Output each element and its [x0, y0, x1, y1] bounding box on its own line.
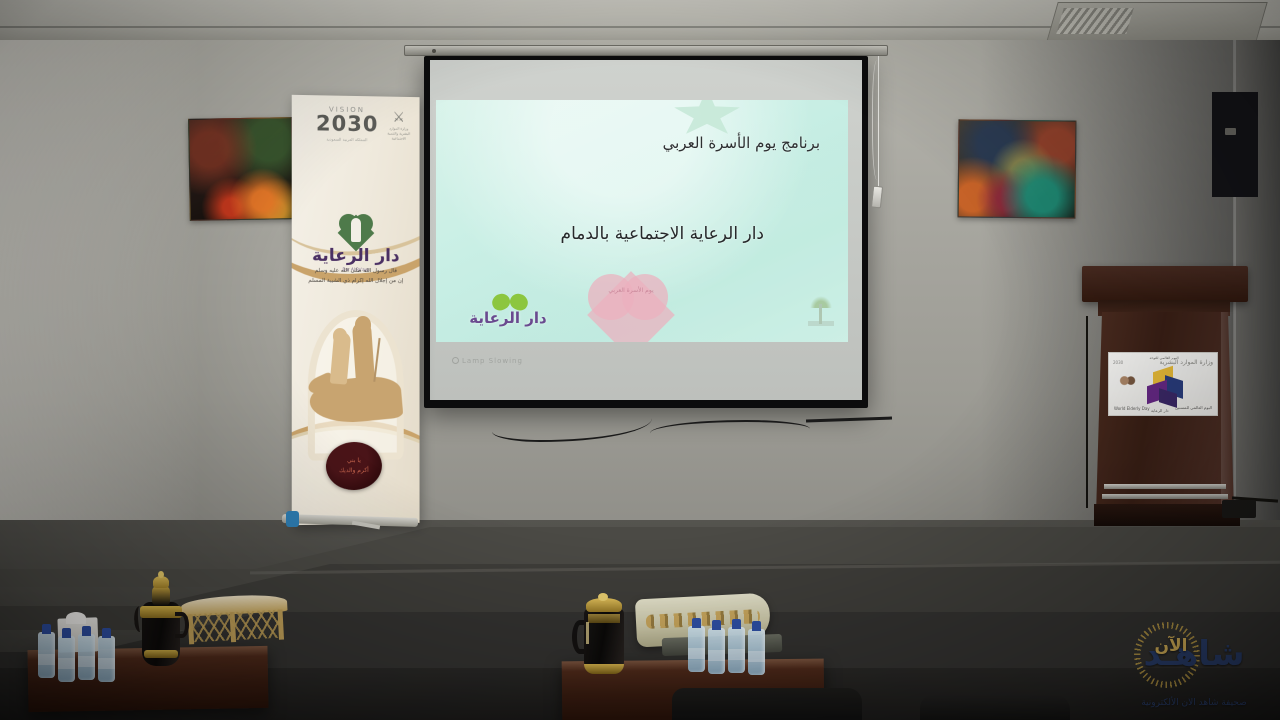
screen-pull-cord-slack: [872, 60, 884, 180]
banner-heart-icon: [339, 214, 373, 244]
heart-logo-icon: يوم الأسرة العربي: [588, 270, 674, 322]
podium-poster-people-photo: [1119, 375, 1137, 389]
water-bottle: [98, 636, 115, 682]
podium-foot-rail-lower: [1102, 494, 1228, 499]
dar-alreaya-logo: دار الرعاية: [448, 294, 568, 336]
screen-brand-label: Lamp Slowing: [452, 357, 523, 365]
star-decoration-icon: [674, 100, 740, 134]
banner-base-cap: [286, 511, 299, 527]
watermark-subtitle: صحيفة شاهد الان الألكترونية: [1116, 698, 1272, 708]
slide-title-line-2: دار الرعاية الاجتماعية بالدمام: [561, 224, 764, 244]
screen-housing-screw: [432, 49, 436, 53]
banner-quote-line-1: قال رسول الله صلى الله عليه وسلم: [298, 266, 414, 277]
ministry-emblem-icon: ⚔: [386, 111, 412, 125]
rollup-banner: VISION 2030 المملكة العربية السعودية ⚔ و…: [292, 95, 420, 525]
podium-poster-cube-graphic: [1145, 369, 1185, 407]
banner-quote-line-2: إن من إجلال الله إكرام ذي الشيبة المسلم: [298, 276, 414, 287]
projector-screen-housing: [404, 45, 888, 56]
water-bottle: [728, 627, 745, 673]
banner-organisation-logo: دار الرعاية Dar Al Re'aya: [292, 213, 420, 272]
podium-poster-footer-right: اليوم العالمي للمسنين: [1175, 405, 1212, 410]
projected-slide: برنامج يوم الأسرة العربي دار الرعاية الا…: [436, 100, 848, 342]
ministry-emblem: ⚔ وزارة الموارد البشرية والتنمية الاجتما…: [386, 111, 412, 142]
podium-poster-vision-mark: 2030: [1113, 360, 1123, 365]
podium-poster-ministry-mark: وزارة الموارد البشرية: [1160, 359, 1213, 366]
heart-logo-text: يوم الأسرة العربي: [588, 286, 674, 295]
foreground-chair-left: [672, 688, 862, 720]
podium-poster-footer-left: World Elderly Day: [1114, 406, 1150, 411]
floor-power-box: [1222, 500, 1256, 518]
tissue-sheet: [66, 612, 86, 624]
vision-2030-number: 2030: [316, 113, 378, 135]
foreground-chair-right: [920, 694, 1070, 720]
podium-poster: اليوم العالمي للتوحد 2030 وزارة الموارد …: [1108, 352, 1218, 416]
dar-alreaya-logo-text: دار الرعاية: [448, 309, 568, 327]
ministry-emblem-text: وزارة الموارد البشرية والتنمية الاجتماعي…: [386, 126, 412, 141]
water-bottle: [58, 636, 75, 682]
podium-base: [1094, 504, 1240, 526]
water-bottle: [688, 626, 705, 672]
elder-figure-left-head: [333, 328, 347, 343]
podium-foot-rail-upper: [1104, 484, 1226, 489]
vision-2030-subtitle: المملكة العربية السعودية: [316, 136, 378, 143]
decorative-tray-left: [181, 589, 290, 652]
water-bottle: [708, 628, 725, 674]
abstract-painting-colorful: [957, 119, 1076, 218]
abstract-painting-warm: [188, 117, 294, 221]
water-bottle: [78, 634, 95, 680]
screen-brand-text: Lamp Slowing: [462, 357, 523, 365]
banner-badge-text: يا بنيأكرم والديك: [339, 456, 369, 477]
water-bottle: [38, 632, 55, 678]
watermark: شاهـد الآن صحيفة شاهد الان الألكترونية: [1116, 620, 1272, 716]
slide-title-line-1: برنامج يوم الأسرة العربي: [663, 134, 820, 152]
watermark-gold-text: الآن: [1138, 636, 1204, 656]
thermos-flask: [576, 592, 630, 676]
podium-top-desk: [1082, 266, 1248, 302]
podium-microphone-cable: [1086, 316, 1088, 508]
brand-mark-icon: [452, 357, 459, 364]
vision-2030-logo: VISION 2030 المملكة العربية السعودية: [316, 105, 378, 143]
wall-highlight-left: [0, 40, 200, 552]
conference-hall-photo: برنامج يوم الأسرة العربي دار الرعاية الا…: [0, 0, 1280, 720]
palm-emblem-icon: [808, 294, 834, 326]
water-bottle: [748, 629, 765, 675]
banner-hadith-quote: قال رسول الله صلى الله عليه وسلم إن من إ…: [298, 266, 414, 287]
wall-speaker-badge: [1225, 128, 1236, 135]
arabic-coffee-pot-dallah: [136, 572, 184, 668]
ceiling-vent-slats: [1056, 8, 1133, 34]
podium-poster-footer-center: دار الرعاية: [1151, 408, 1169, 413]
wall-speaker: [1212, 92, 1258, 197]
elder-figure-right-head: [355, 316, 371, 333]
